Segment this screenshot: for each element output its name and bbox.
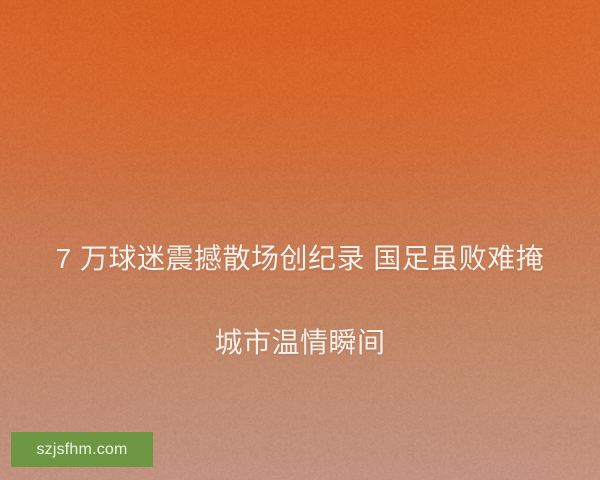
image-canvas: 7 万球迷震撼散场创纪录 国足虽败难掩 城市温情瞬间 szjsfhm.com — [0, 0, 600, 480]
headline-text: 7 万球迷震撼散场创纪录 国足虽败难掩 城市温情瞬间 — [0, 196, 600, 406]
headline-line-2: 城市温情瞬间 — [24, 322, 576, 364]
watermark-badge: szjsfhm.com — [11, 432, 153, 467]
headline-line-1: 7 万球迷震撼散场创纪录 国足虽败难掩 — [24, 238, 576, 280]
watermark-label: szjsfhm.com — [36, 442, 127, 458]
